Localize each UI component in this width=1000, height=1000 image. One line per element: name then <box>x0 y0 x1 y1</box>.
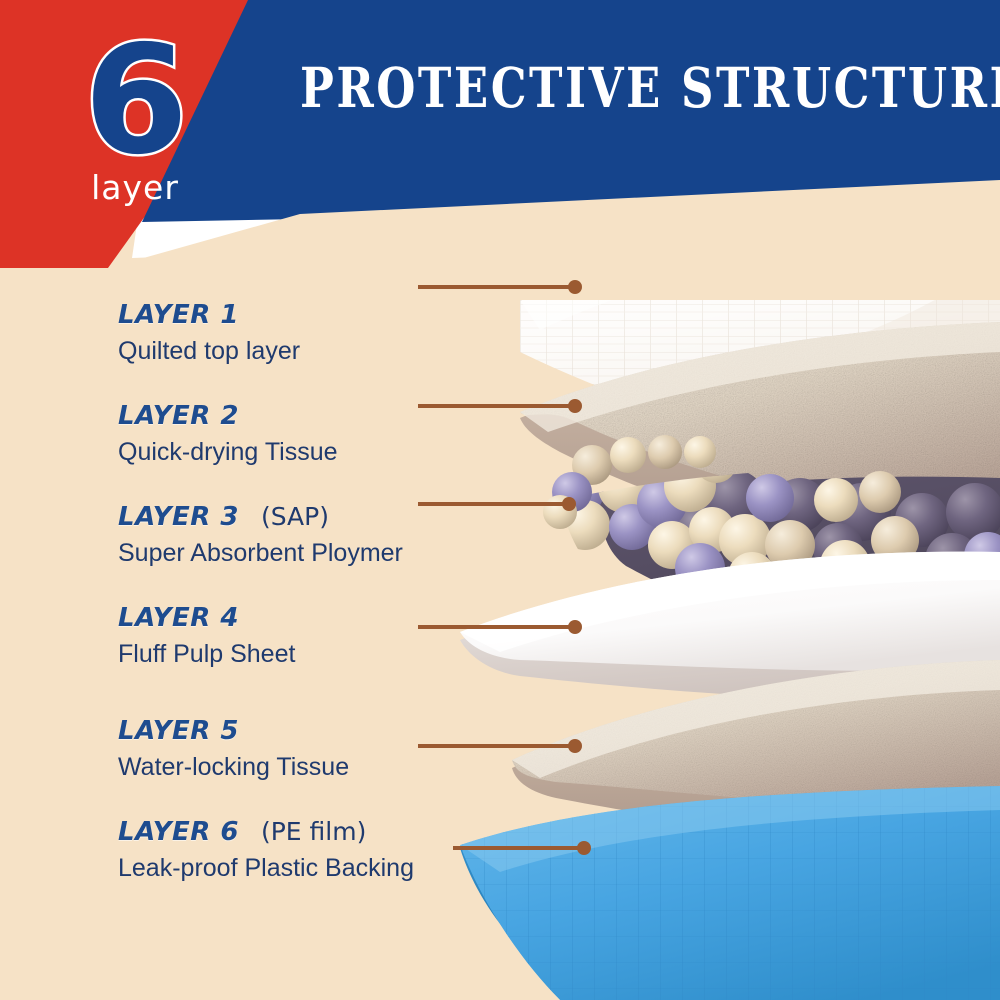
illustration-layer-6-pe-film <box>440 770 1000 1000</box>
leader-line-3 <box>418 502 570 506</box>
layer-label-2: LAYER 2 Quick-drying Tissue <box>118 401 338 467</box>
layer-3-title: LAYER 3(SAP) <box>118 502 403 532</box>
leader-dot-3 <box>562 497 576 511</box>
leader-line-1 <box>418 285 576 289</box>
bead-group-spill <box>543 435 716 529</box>
layer-2-desc: Quick-drying Tissue <box>118 438 338 467</box>
banner: 6 layer PROTECTIVE STRUCTURE <box>0 0 1000 300</box>
layer-label-5: LAYER 5 Water-locking Tissue <box>118 716 349 782</box>
layer-6-desc: Leak-proof Plastic Backing <box>118 854 414 883</box>
layer-1-title: LAYER 1 <box>118 300 300 330</box>
page-title: PROTECTIVE STRUCTURE <box>300 56 960 121</box>
leader-line-4 <box>418 625 576 629</box>
layer-count-word: layer <box>70 168 200 207</box>
layer-3-title-text: LAYER 3 <box>118 502 239 532</box>
leader-line-6 <box>453 846 585 850</box>
layer-2-title-text: LAYER 2 <box>118 401 239 431</box>
layer-label-4: LAYER 4 Fluff Pulp Sheet <box>118 603 295 669</box>
infographic-canvas: 6 layer PROTECTIVE STRUCTURE LAYER 1 Qui… <box>0 0 1000 1000</box>
leader-dot-4 <box>568 620 582 634</box>
layer-1-desc: Quilted top layer <box>118 337 300 366</box>
layer-label-3: LAYER 3(SAP) Super Absorbent Ploymer <box>118 502 403 568</box>
layer-label-6: LAYER 6(PE film) Leak-proof Plastic Back… <box>118 817 414 883</box>
layer-6-title: LAYER 6(PE film) <box>118 817 414 847</box>
layer-5-desc: Water-locking Tissue <box>118 753 349 782</box>
layer-4-desc: Fluff Pulp Sheet <box>118 640 295 669</box>
leader-line-2 <box>418 404 576 408</box>
bead-group-front <box>556 430 1000 675</box>
leader-line-5 <box>418 744 576 748</box>
leader-dot-6 <box>577 841 591 855</box>
layer-label-1: LAYER 1 Quilted top layer <box>118 300 300 366</box>
layer-6-title-text: LAYER 6 <box>118 817 239 847</box>
layer-5-title-text: LAYER 5 <box>118 716 239 746</box>
illustration-layer-5-tissue <box>512 660 1000 841</box>
leader-dot-2 <box>568 399 582 413</box>
layer-1-title-text: LAYER 1 <box>118 300 239 330</box>
illustration-layer-3-sap <box>543 430 1000 675</box>
layer-3-paren: (SAP) <box>261 502 329 531</box>
leader-dot-5 <box>568 739 582 753</box>
layer-6-paren: (PE film) <box>261 817 366 846</box>
layer-4-title-text: LAYER 4 <box>118 603 239 633</box>
illustration-layer-2-tissue <box>520 322 1000 560</box>
layer-5-title: LAYER 5 <box>118 716 349 746</box>
layer-2-title: LAYER 2 <box>118 401 338 431</box>
layer-count-number: 6 <box>70 26 200 176</box>
layer-3-desc: Super Absorbent Ploymer <box>118 539 403 568</box>
bead-group-back <box>674 470 1000 628</box>
layer-4-title: LAYER 4 <box>118 603 295 633</box>
leader-dot-1 <box>568 280 582 294</box>
